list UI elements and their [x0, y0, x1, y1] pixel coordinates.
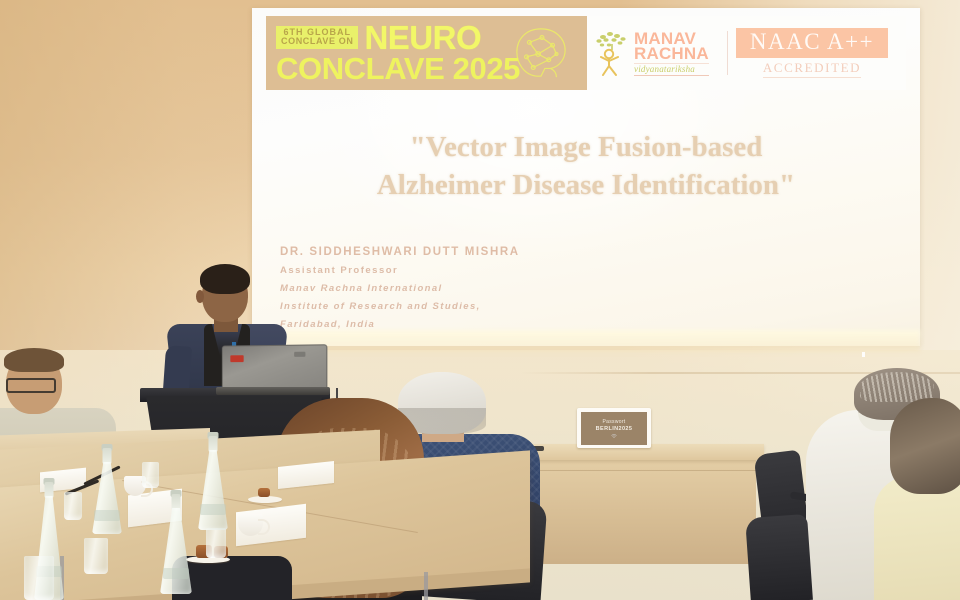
bottle-label [94, 510, 119, 521]
table-leg [424, 572, 428, 600]
bottle-neck [172, 494, 181, 510]
saucer [248, 496, 282, 503]
slide-title-line-1: "Vector Image Fusion-based [272, 128, 900, 166]
coffee-cup [238, 514, 263, 536]
speaker-name: DR. SIDDHESHWARI DUTT MISHRA [280, 246, 610, 258]
attendee-cream-body [874, 476, 960, 600]
wifi-card: Passwort BERLIN2025 [581, 412, 647, 445]
naac-logo: NAAC A++ ACCREDITED [736, 28, 888, 78]
presenter-hair [200, 264, 250, 294]
water-bottle [160, 494, 192, 594]
laptop-logo [294, 352, 305, 357]
bottle-label [200, 504, 225, 515]
water-bottle [198, 436, 228, 530]
bottle-neck [45, 482, 54, 498]
bottle-label [163, 568, 190, 579]
credenza-body [516, 458, 756, 564]
drinking-glass [24, 556, 54, 600]
credenza-edge-line [516, 470, 756, 471]
wifi-password-value: BERLIN2025 [596, 426, 633, 432]
slide-title-line-2: Alzheimer Disease Identification" [272, 166, 900, 204]
naac-grade-box: NAAC A++ [736, 28, 888, 58]
tree-person-icon [593, 30, 631, 76]
laptop-sticker [230, 355, 243, 362]
bottle-body [198, 450, 228, 530]
screen-light-dot [862, 352, 865, 357]
bottle-body [160, 508, 192, 594]
neuro-wordmark: NEURO [364, 23, 481, 53]
wifi-password-sign: Passwort BERLIN2025 [577, 408, 651, 448]
neuro-conclave-branding: 6TH GLOBAL CONCLAVE ON NEURO CONCLAVE 20… [266, 16, 578, 90]
bottle-neck [103, 448, 112, 464]
manav-rachna-wordmark: MANAV RACHNA vidyanatariksha [634, 31, 709, 76]
drinking-glass [206, 528, 226, 558]
presenter-laptop [220, 345, 332, 395]
header-divider [578, 16, 587, 90]
institution-logos: MANAV RACHNA vidyanatariksha NAAC A++ AC… [587, 16, 906, 90]
laptop-base [216, 387, 330, 395]
bottle-neck [209, 436, 218, 452]
water-bottle [92, 448, 122, 534]
drinking-glass [84, 538, 108, 574]
presenter-ear [196, 290, 204, 303]
wifi-password-label: Passwort [603, 419, 626, 425]
drinking-glass [64, 492, 82, 520]
manav-rachna-logo: MANAV RACHNA vidyanatariksha [593, 30, 719, 76]
manav-rachna-tagline: vidyanatariksha [634, 63, 709, 76]
logo-separator [727, 31, 728, 75]
wifi-icon [611, 434, 617, 438]
bottle-body [92, 462, 122, 534]
chair-right-lower [745, 514, 813, 600]
attendee-cream-cardigan [884, 398, 960, 600]
slide-title: "Vector Image Fusion-based Alzheimer Dis… [272, 128, 900, 204]
laptop-lid [222, 344, 328, 391]
manav-rachna-line-2: RACHNA [634, 46, 709, 61]
pastry [258, 488, 270, 497]
brain-network-icon [512, 25, 570, 81]
conclave-badge: 6TH GLOBAL CONCLAVE ON [276, 26, 358, 49]
presentation-photo-scene: 6TH GLOBAL CONCLAVE ON NEURO CONCLAVE 20… [0, 0, 960, 600]
badge-line-2: CONCLAVE ON [281, 37, 353, 46]
attendee-cream-hair [890, 398, 960, 494]
drinking-glass [142, 462, 159, 488]
naac-accredited-label: ACCREDITED [763, 60, 861, 78]
slide-header-band: 6TH GLOBAL CONCLAVE ON NEURO CONCLAVE 20… [266, 16, 906, 90]
attendee-left-glasses [6, 378, 56, 393]
attendee-left-hair [4, 348, 64, 372]
